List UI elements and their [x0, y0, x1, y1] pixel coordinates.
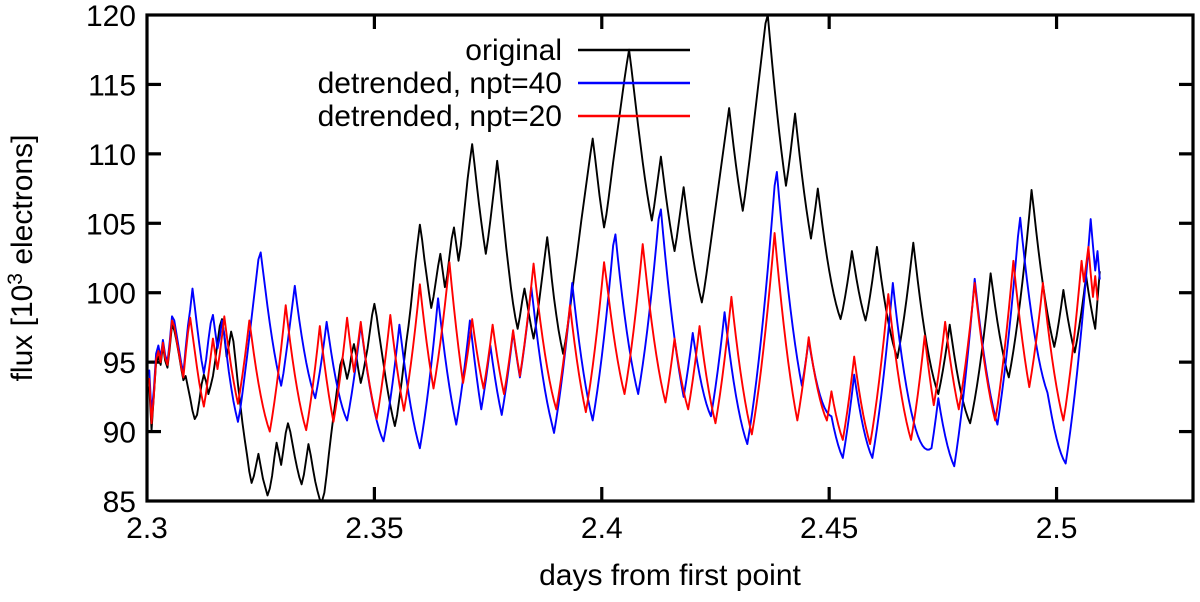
legend-label-0: original [465, 34, 562, 67]
y-tick-label: 105 [86, 208, 136, 241]
x-tick-label: 2.3 [126, 512, 168, 545]
flux-time-series-plot: 859095100105110115120 2.32.352.42.452.5 … [0, 0, 1200, 602]
y-tick-label: 120 [86, 0, 136, 33]
legend-label-2: detrended, npt=20 [318, 100, 562, 133]
y-tick-label: 115 [88, 69, 136, 102]
x-tick-label: 2.35 [345, 512, 403, 545]
x-tick-label: 2.4 [581, 512, 623, 545]
y-tick-label: 95 [103, 347, 136, 380]
chart-figure: 859095100105110115120 2.32.352.42.452.5 … [0, 0, 1200, 602]
y-tick-label: 90 [103, 417, 136, 450]
x-axis-title: days from first point [539, 559, 801, 592]
x-tick-label: 2.5 [1036, 512, 1078, 545]
y-tick-label: 110 [88, 139, 136, 172]
y-axis-title: flux [103 electrons] [4, 135, 39, 382]
y-tick-label: 100 [86, 278, 136, 311]
legend-label-1: detrended, npt=40 [318, 67, 562, 100]
x-tick-label: 2.45 [800, 512, 858, 545]
